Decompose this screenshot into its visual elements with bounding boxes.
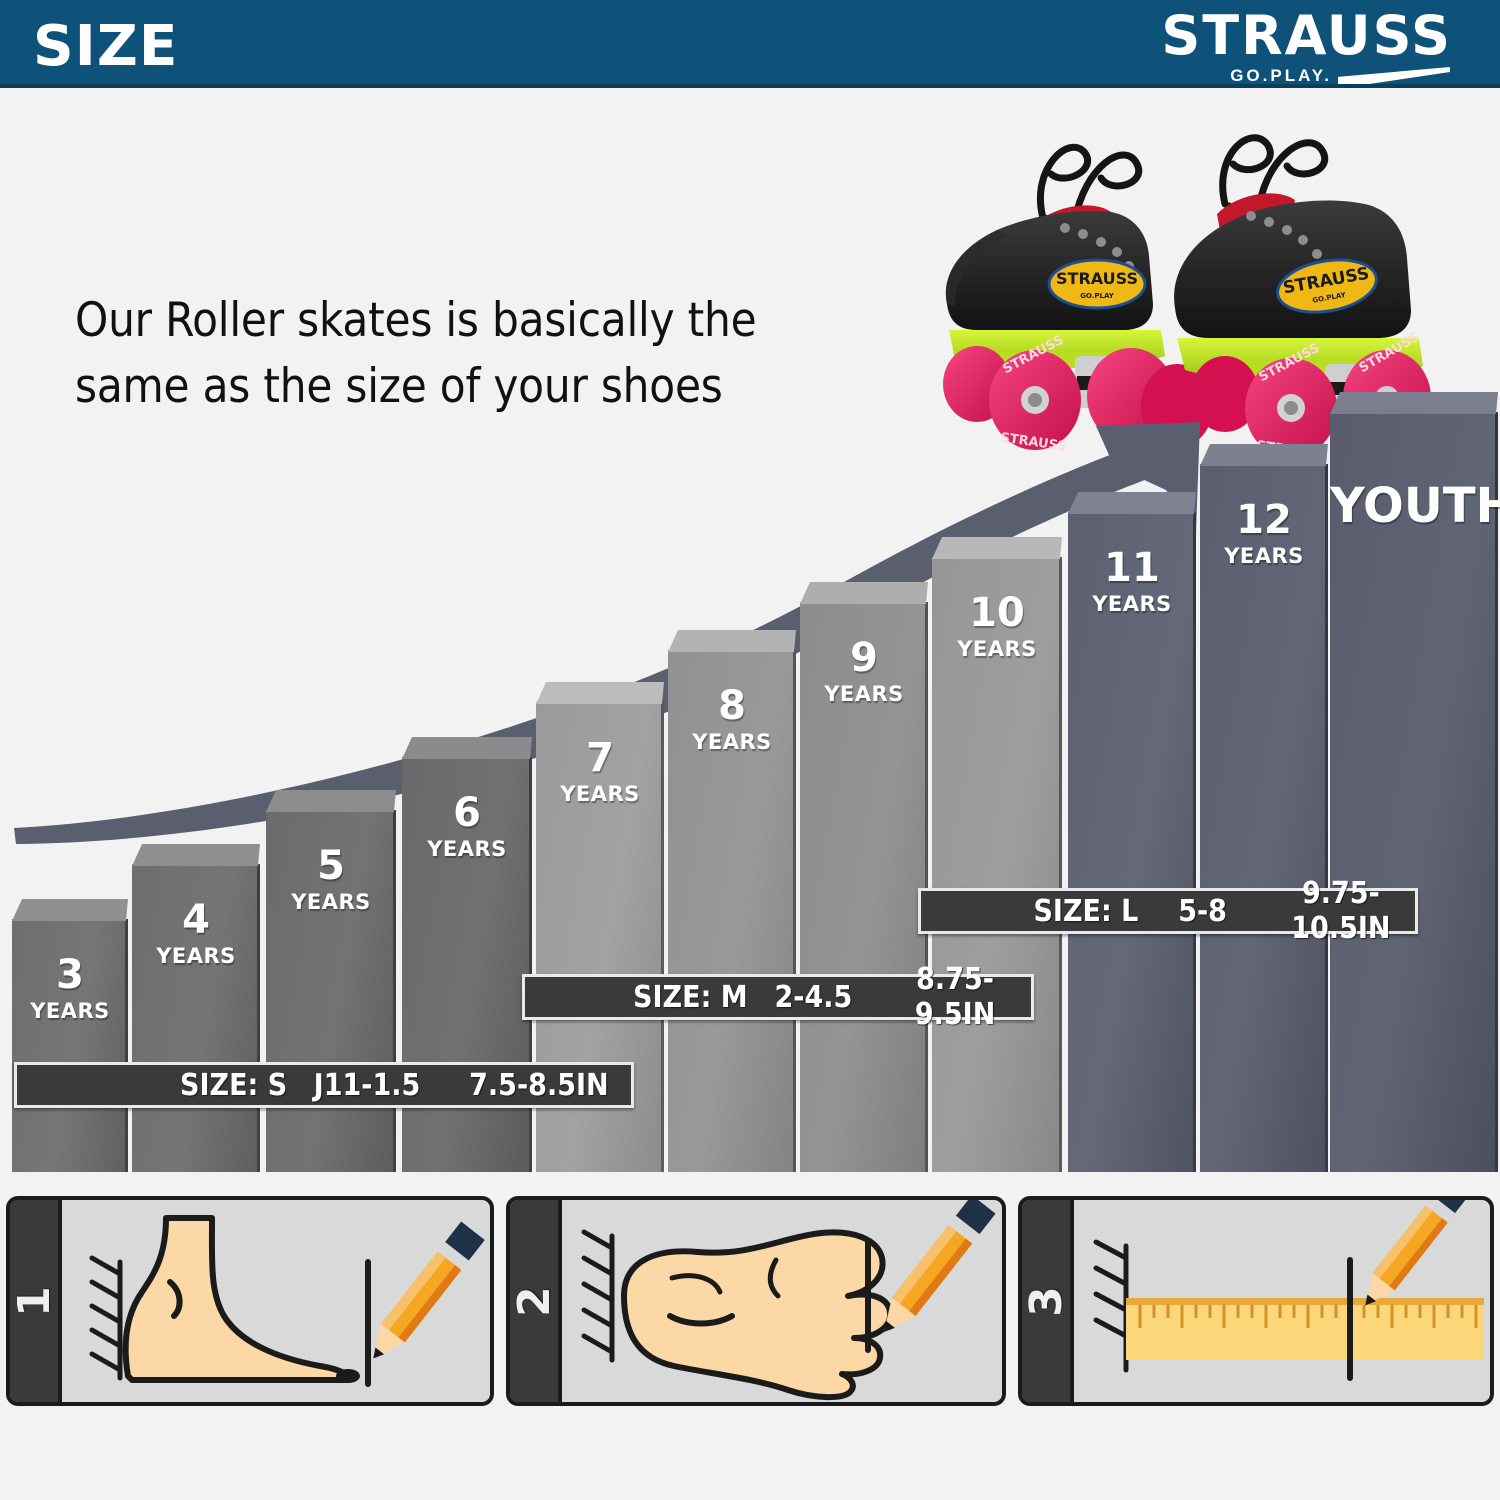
bar-unit-label: YEARS <box>536 784 664 805</box>
brand-logo: STRAUSS GO.PLAY. <box>1161 8 1452 86</box>
step-number: 2 <box>509 1286 560 1317</box>
bar-10-years: 10YEARS <box>932 557 1062 1172</box>
bar-unit-label: YEARS <box>800 684 928 705</box>
step-panel-3: 3 Measure the distance fromthe toe to th… <box>1018 1196 1494 1406</box>
bar-age-number: 3 <box>12 955 128 995</box>
bar-age-number: 6 <box>402 793 532 833</box>
step-panel-1: 1 Heel against the corner <box>6 1196 494 1406</box>
size-plate-label: SIZE: S <box>17 1068 287 1103</box>
swoosh-icon <box>1338 67 1450 85</box>
step-panel-2: 2 Marking the position of the toes <box>506 1196 1006 1406</box>
bar-label: 8YEARS <box>668 686 796 753</box>
bar-age-number: 9 <box>800 638 928 678</box>
bar-label: YOUTH <box>1330 482 1498 530</box>
bar-label: 9YEARS <box>800 638 928 705</box>
size-plate-l: SIZE: L5-89.75-10.5IN <box>918 888 1418 934</box>
size-plate-shoe-range: 5-8 <box>1138 894 1266 929</box>
size-plate-inches: 7.5-8.5IN <box>447 1068 631 1103</box>
size-plate-shoe-range: 2-4.5 <box>748 980 880 1015</box>
bar-age-number: 12 <box>1200 500 1328 540</box>
bar-12-years: 12YEARS <box>1200 464 1328 1172</box>
pencil-icon <box>361 1222 484 1368</box>
bar-4-years: 4YEARS <box>132 864 260 1172</box>
bar-age-number: 10 <box>932 593 1062 633</box>
bar-top-face <box>668 630 796 652</box>
bar-6-years: 6YEARS <box>402 757 532 1172</box>
size-plate-label: SIZE: M <box>525 980 748 1015</box>
bar-age-number: 4 <box>132 900 260 940</box>
bar-label: 7YEARS <box>536 738 664 805</box>
bar-age-number: 8 <box>668 686 796 726</box>
bar-top-face <box>1200 444 1328 466</box>
page-header: SIZE STRAUSS GO.PLAY. <box>0 0 1500 88</box>
pencil-icon <box>1354 1200 1471 1314</box>
bar-unit-label: YEARS <box>266 892 396 913</box>
bar-unit-label: YEARS <box>1068 594 1196 615</box>
bar-top-face <box>536 682 664 704</box>
bar-top-face <box>266 790 396 812</box>
bar-age-number: YOUTH <box>1330 482 1498 530</box>
bar-top-face <box>932 537 1062 559</box>
bar-label: 3YEARS <box>12 955 128 1022</box>
size-plate-s: SIZE: SJ11-1.57.5-8.5IN <box>14 1062 634 1108</box>
step-number-box: 2 <box>510 1200 562 1402</box>
bar-unit-label: YEARS <box>932 639 1062 660</box>
bar-label: 10YEARS <box>932 593 1062 660</box>
bar-top-face <box>1330 392 1498 414</box>
bar-unit-label: YEARS <box>1200 546 1328 567</box>
brand-tagline: GO.PLAY. <box>1230 66 1332 86</box>
foot-side-view-icon <box>62 1200 494 1402</box>
pencil-icon <box>872 1200 995 1341</box>
bar-9-years: 9YEARS <box>800 602 928 1172</box>
bar-label: 4YEARS <box>132 900 260 967</box>
brand-name: STRAUSS <box>1161 8 1452 64</box>
bar-unit-label: YEARS <box>12 1001 128 1022</box>
bar-unit-label: YEARS <box>132 946 260 967</box>
bar-5-years: 5YEARS <box>266 810 396 1172</box>
step-number-box: 1 <box>10 1200 62 1402</box>
bar-label: 6YEARS <box>402 793 532 860</box>
bar-top-face <box>402 737 532 759</box>
bar-unit-label: YEARS <box>668 732 796 753</box>
headline-text: Our Roller skates is basically the same … <box>75 288 875 420</box>
foot-sole-view-icon <box>562 1200 1006 1402</box>
bar-front <box>1200 464 1328 1172</box>
size-plate-m: SIZE: M2-4.58.75-9.5IN <box>522 974 1034 1020</box>
bar-top-face <box>132 844 260 866</box>
bar-age-number: 7 <box>536 738 664 778</box>
step-number: 1 <box>9 1286 60 1317</box>
size-plate-inches: 8.75-9.5IN <box>879 962 1031 1032</box>
svg-text:GO.PLAY: GO.PLAY <box>1080 292 1115 300</box>
bar-top-face <box>800 582 928 604</box>
bar-top-face <box>1068 492 1196 514</box>
brand-tagline-row: GO.PLAY. <box>1161 66 1452 86</box>
page-title: SIZE <box>33 14 179 79</box>
size-plate-inches: 9.75-10.5IN <box>1267 876 1415 946</box>
bar-top-face <box>12 899 128 921</box>
bar-age-number: 5 <box>266 846 396 886</box>
age-size-bar-chart: 3YEARS4YEARS5YEARS6YEARS7YEARS8YEARS9YEA… <box>0 540 1500 1172</box>
size-plate-label: SIZE: L <box>921 894 1138 929</box>
bar-age-number: 11 <box>1068 548 1196 588</box>
bar-unit-label: YEARS <box>402 839 532 860</box>
bar-3-years: 3YEARS <box>12 919 128 1172</box>
size-plate-shoe-range: J11-1.5 <box>287 1068 447 1103</box>
skate-left: STRAUSS GO.PLAY STRAUSS STRAUSS <box>943 147 1213 454</box>
step-number: 3 <box>1021 1286 1072 1317</box>
step-number-box: 3 <box>1022 1200 1074 1402</box>
ruler-icon <box>1074 1200 1494 1402</box>
bar-label: 11YEARS <box>1068 548 1196 615</box>
bar-8-years: 8YEARS <box>668 650 796 1172</box>
bar-11-years: 11YEARS <box>1068 512 1196 1172</box>
bar-label: 12YEARS <box>1200 500 1328 567</box>
svg-text:STRAUSS: STRAUSS <box>1056 269 1138 288</box>
bar-label: 5YEARS <box>266 846 396 913</box>
bar-youth: YOUTH <box>1330 412 1498 1172</box>
